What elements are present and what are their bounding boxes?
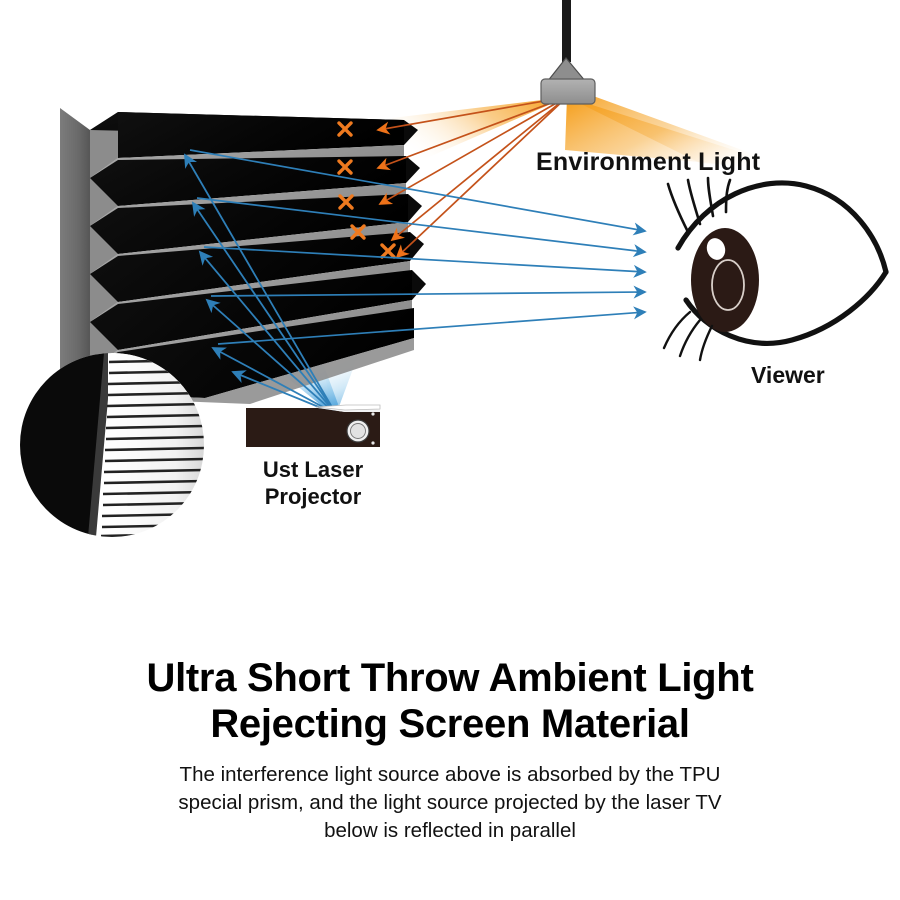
viewer-label: Viewer — [751, 362, 825, 389]
caption-body-line1: The interference light source above is a… — [92, 761, 808, 789]
environment-light-label: Environment Light — [536, 148, 760, 177]
iris — [691, 228, 759, 332]
caption-block: Ultra Short Throw Ambient Light Rejectin… — [0, 655, 900, 845]
caption-title-line1: Ultra Short Throw Ambient Light — [40, 655, 860, 701]
caption-body-line2: special prism, and the light source proj… — [92, 789, 808, 817]
caption-body: The interference light source above is a… — [0, 761, 900, 845]
projector-label-line2: Projector — [243, 483, 383, 510]
projector-label: Ust Laser Projector — [243, 456, 383, 510]
eye-icon — [664, 178, 886, 360]
caption-title-line2: Rejecting Screen Material — [40, 701, 860, 747]
caption-title: Ultra Short Throw Ambient Light Rejectin… — [0, 655, 900, 747]
diagram-canvas: Environment Light Viewer Ust Laser Proje… — [0, 0, 900, 900]
ceiling-lamp-icon — [541, 0, 595, 104]
ust-projector-icon — [246, 405, 380, 447]
projector-label-line1: Ust Laser — [243, 456, 383, 483]
caption-body-line3: below is reflected in parallel — [92, 817, 808, 845]
magnifier-inset-icon — [20, 353, 204, 537]
